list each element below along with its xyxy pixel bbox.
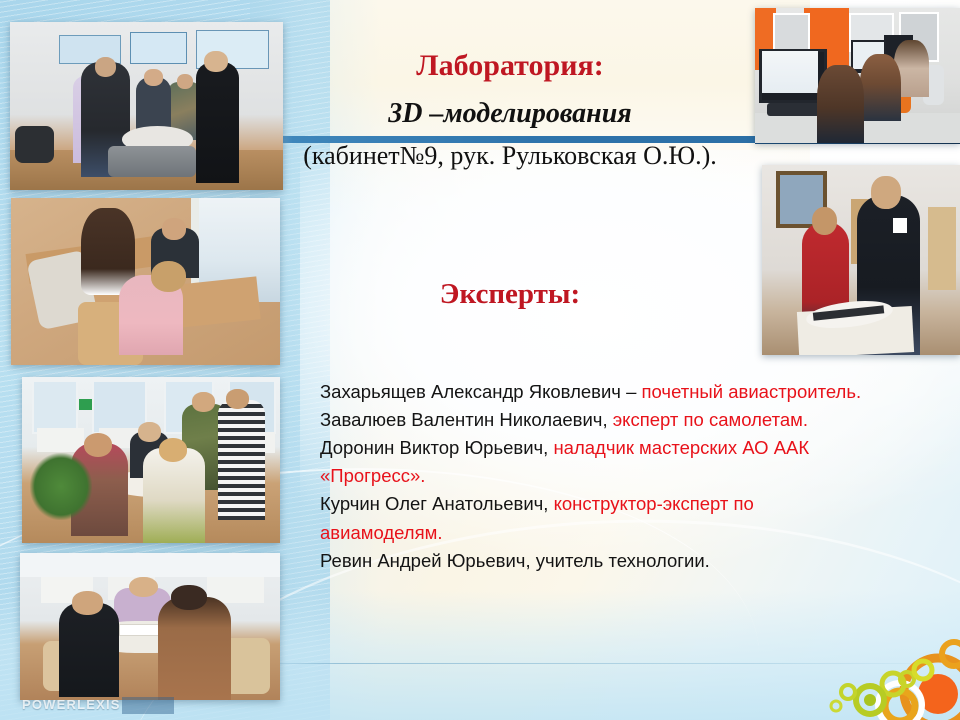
photo-girls-desk-window [11,198,280,365]
expert-name-5: Ревин Андрей Юрьевич, учитель технологии… [320,550,710,571]
presentation-slide: Лаборатория: 3D –моделирования (кабинет№… [0,0,960,720]
expert-entry-1: Захарьящев Александр Яковлевич – почетны… [320,378,880,406]
photo-classroom-round-table [22,377,280,543]
decorative-circles [760,610,960,720]
expert-name-3: Доронин Виктор Юрьевич, [320,437,553,458]
lab-subject: 3D –моделирования [300,97,720,131]
expert-entry-2: Завалюев Валентин Николаевич, эксперт по… [320,406,880,434]
expert-role-1: почетный авиастроитель. [642,381,862,402]
experts-heading: Эксперты: [300,278,720,311]
title-block: Лаборатория: 3D –моделирования (кабинет№… [300,48,720,172]
experts-list: Захарьящев Александр Яковлевич – почетны… [320,378,880,575]
expert-entry-4: Курчин Олег Анатольевич, конструктор-экс… [320,490,880,546]
photo-workshop-students-table [10,22,283,190]
expert-name-2: Завалюев Валентин Николаевич, [320,409,613,430]
expert-name-1: Захарьящев Александр Яковлевич – [320,381,642,402]
expert-entry-5: Ревин Андрей Юрьевич, учитель технологии… [320,547,880,575]
lab-room-and-head: (кабинет№9, рук. Рульковская О.Ю.). [300,139,720,172]
expert-name-4: Курчин Олег Анатольевич, [320,493,554,514]
expert-role-2: эксперт по самолетам. [613,409,808,430]
powerlexis-watermark: POWERLEXIS [22,697,121,712]
photo-computer-lab [755,8,960,143]
photo-boy-model-plane [762,165,960,355]
photo-three-people-table [20,553,280,700]
lab-label: Лаборатория: [300,48,720,83]
watermark-box [122,697,174,714]
expert-entry-3: Доронин Виктор Юрьевич, наладчик мастерс… [320,434,880,490]
